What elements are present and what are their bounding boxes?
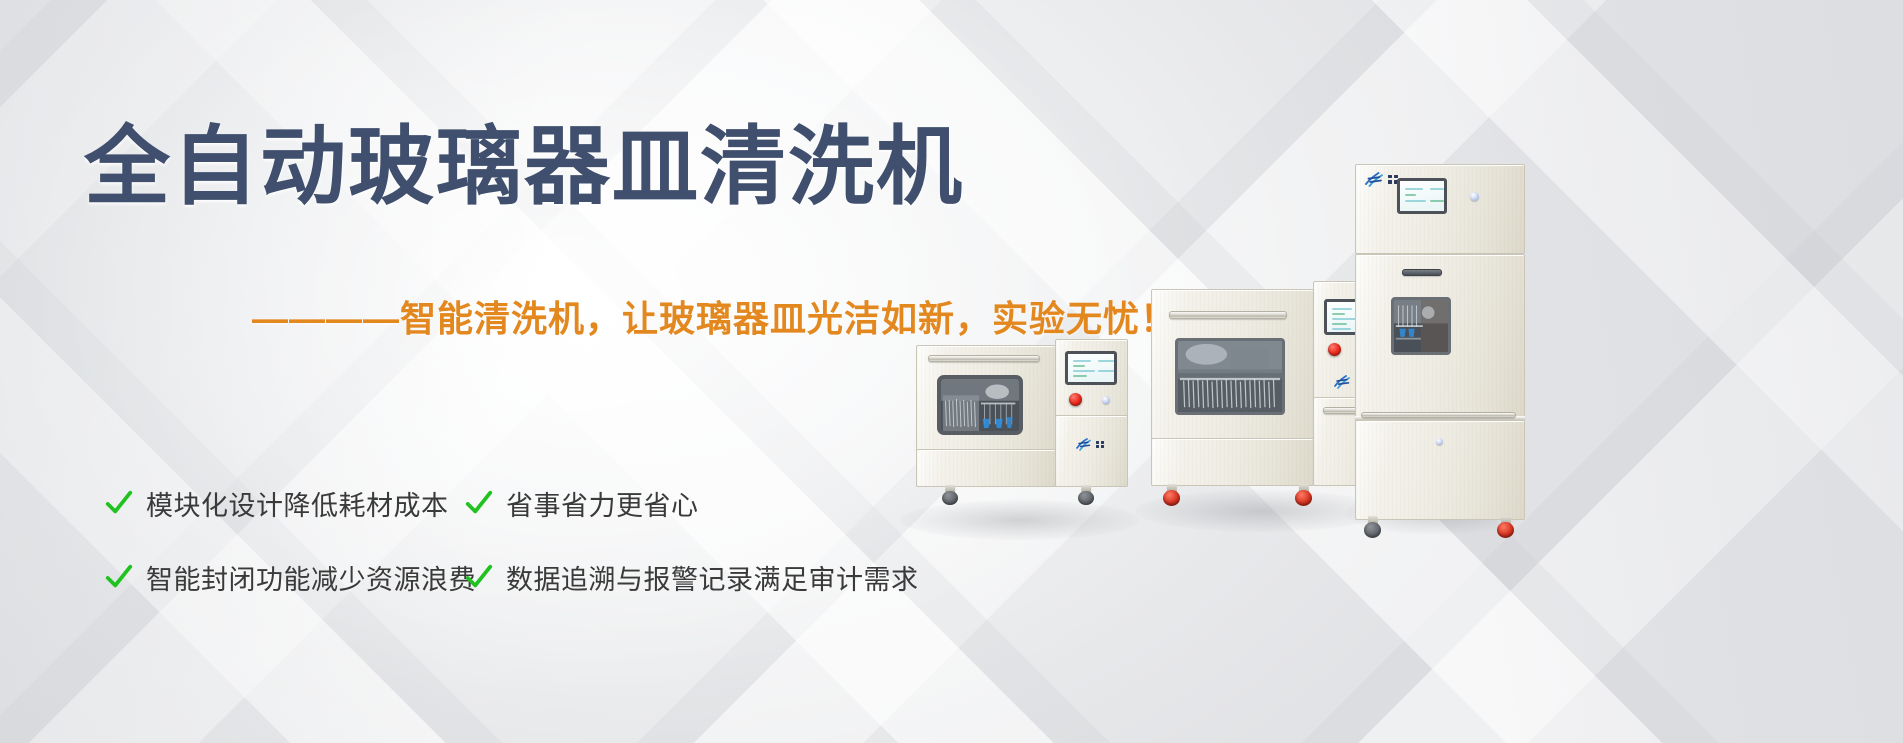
caster-wheel	[1295, 484, 1312, 506]
brand-logo	[1076, 438, 1104, 451]
lock-indicator	[1436, 438, 1443, 445]
glassware-rack-icon	[1178, 341, 1282, 414]
door-handle	[1169, 311, 1287, 319]
power-indicator-light	[1102, 396, 1110, 404]
brand-h-mark-icon	[1334, 375, 1352, 389]
glassware-rack-icon	[941, 379, 1019, 433]
chamber-viewing-window	[1391, 297, 1451, 355]
lower-drawer-panel	[916, 449, 1056, 487]
door-handle	[1402, 269, 1442, 276]
brand-h-mark-icon	[1365, 172, 1385, 187]
control-touchscreen[interactable]	[1065, 351, 1117, 385]
brand-logo	[1365, 172, 1398, 187]
caster-wheel	[1163, 484, 1180, 506]
caster-wheel	[1364, 516, 1381, 538]
caster-wheel	[942, 485, 958, 505]
chamber-viewing-window	[1175, 338, 1285, 415]
control-touchscreen[interactable]	[1397, 178, 1447, 214]
emergency-stop-button[interactable]	[1328, 343, 1341, 356]
lower-utility-section	[1355, 420, 1525, 520]
lower-drawer-panel	[1151, 438, 1314, 486]
caster-wheel	[1078, 485, 1094, 505]
power-indicator-light	[1470, 192, 1479, 201]
glassware-rack-icon	[1394, 300, 1448, 352]
product-banner: 全自动玻璃器皿清洗机 ————智能清洗机，让玻璃器皿光洁如新，实验无忧！ 模块化…	[0, 0, 1903, 743]
machine-tall-column-washer	[1355, 164, 1525, 524]
emergency-stop-button[interactable]	[1069, 393, 1082, 406]
brand-h-mark-icon	[1076, 438, 1093, 451]
machine-midsize-floor-washer	[1151, 281, 1389, 521]
machine-compact-undercounter-washer	[916, 339, 1128, 519]
product-photo-group	[0, 0, 1903, 743]
caster-wheel	[1497, 516, 1514, 538]
brand-dot-grid-icon	[1096, 441, 1104, 449]
chamber-viewing-window	[937, 375, 1023, 435]
service-access-panel	[1055, 415, 1128, 487]
door-handle	[1361, 412, 1516, 418]
door-handle	[928, 355, 1040, 362]
